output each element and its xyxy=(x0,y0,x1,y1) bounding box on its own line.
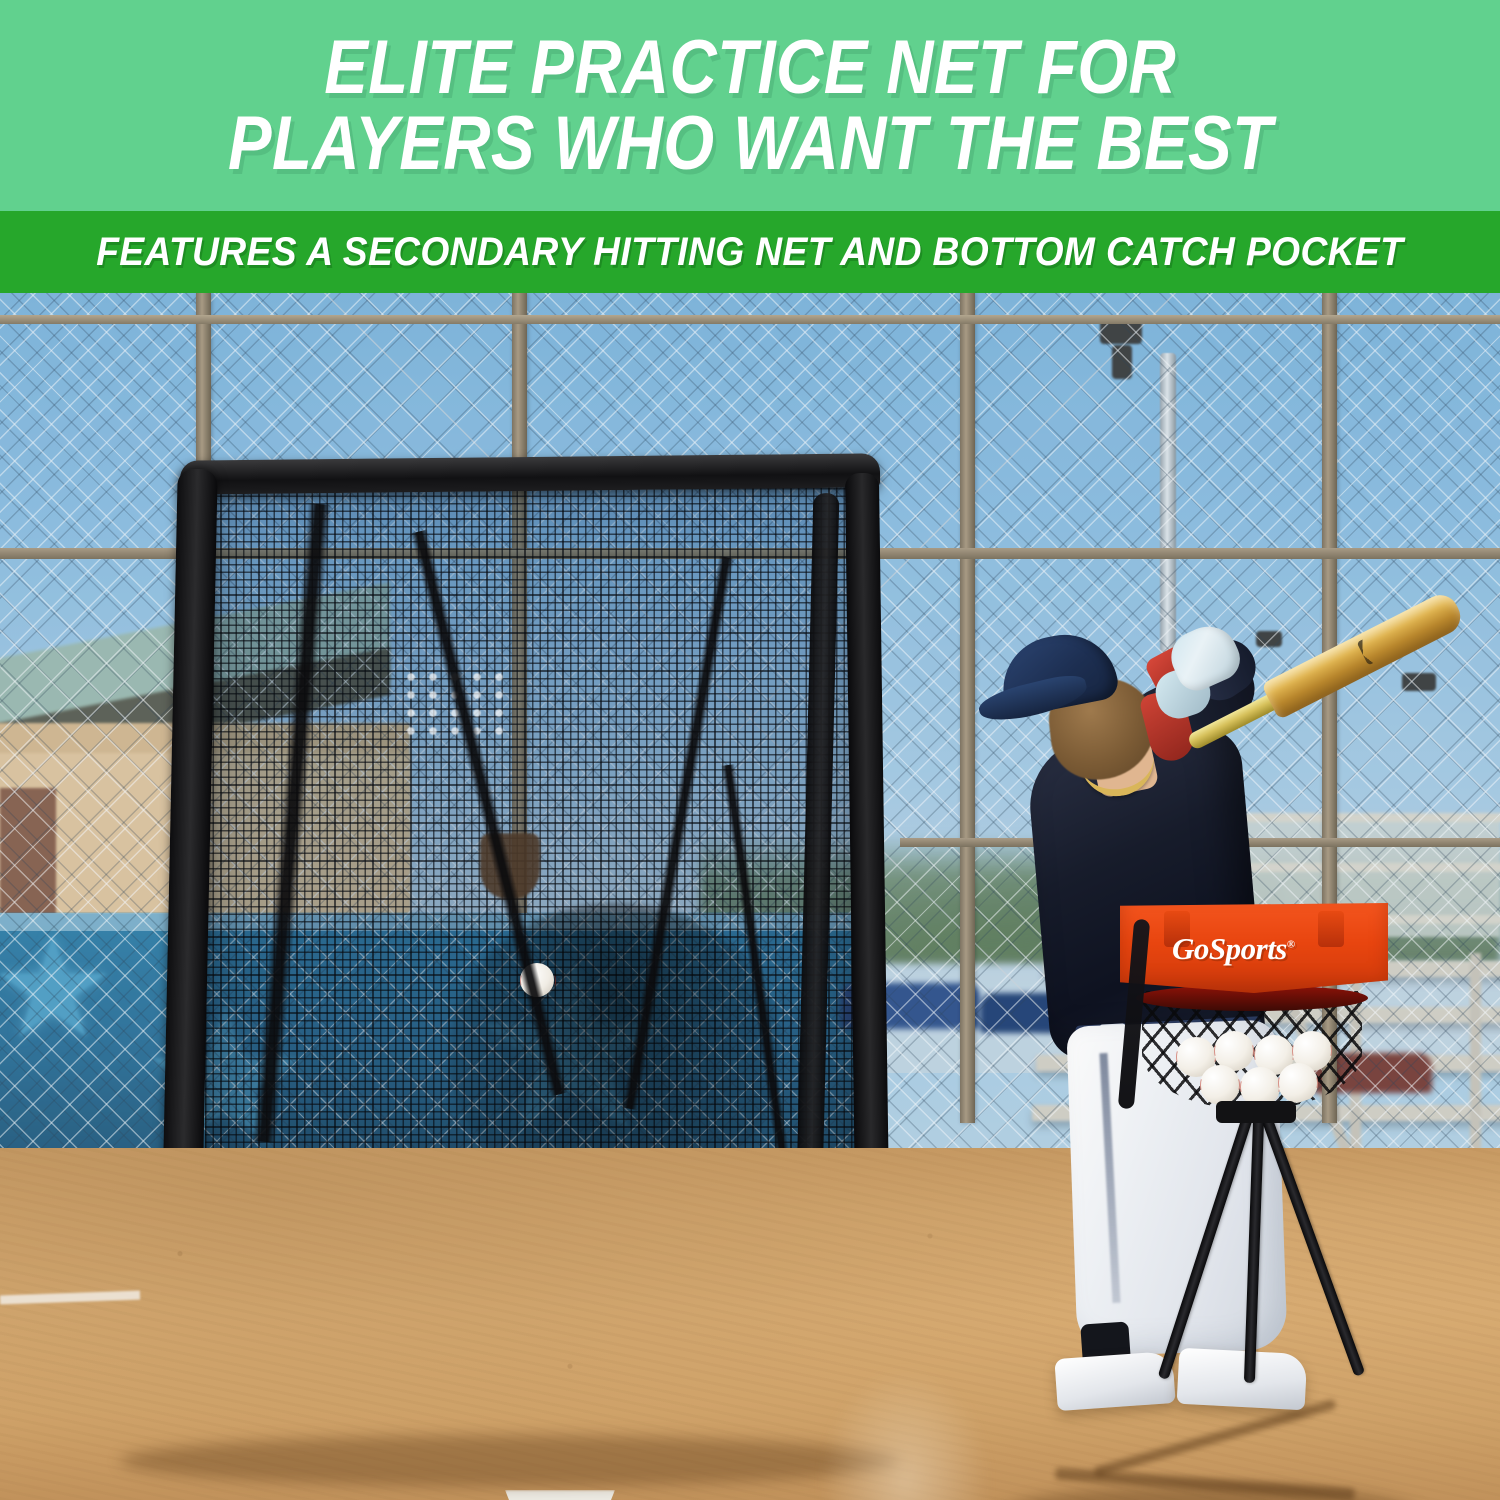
caddy-leg xyxy=(1252,1091,1365,1377)
baseball-in-caddy xyxy=(1200,1065,1240,1105)
caddy-strap-tab xyxy=(1318,911,1344,947)
light-fixture-icon xyxy=(1112,345,1132,379)
product-lifestyle-image: ELITE PRACTICE NET FOR PLAYERS WHO WANT … xyxy=(0,0,1500,1500)
wall-star-graphic: ★ xyxy=(0,918,116,1058)
headline-banner: ELITE PRACTICE NET FOR PLAYERS WHO WANT … xyxy=(0,0,1500,211)
gosports-logo: GoSports® xyxy=(1172,931,1295,967)
ball-caddy: GoSports® xyxy=(1120,903,1440,1403)
baseball-in-caddy xyxy=(1278,1063,1318,1103)
headline-text: ELITE PRACTICE NET FOR PLAYERS WHO WANT … xyxy=(228,30,1272,180)
caddy-baseballs xyxy=(1174,1031,1334,1107)
fence-top-rail xyxy=(0,315,1500,324)
net-ground-shadow xyxy=(120,1435,900,1487)
headline-line-1: ELITE PRACTICE NET FOR xyxy=(324,25,1176,110)
gosports-logo-text: GoSports xyxy=(1172,931,1287,966)
subheadline-text: FEATURES A SECONDARY HITTING NET AND BOT… xyxy=(96,230,1403,275)
home-plate xyxy=(505,1490,615,1500)
headline-line-2: PLAYERS WHO WANT THE BEST xyxy=(228,106,1272,181)
caddy-leg-hub xyxy=(1216,1101,1296,1123)
lifestyle-photo: ★ ★ ★ PON Baseball xyxy=(0,293,1500,1500)
registered-trademark-icon: ® xyxy=(1287,939,1295,951)
subheadline-banner: FEATURES A SECONDARY HITTING NET AND BOT… xyxy=(0,211,1500,293)
